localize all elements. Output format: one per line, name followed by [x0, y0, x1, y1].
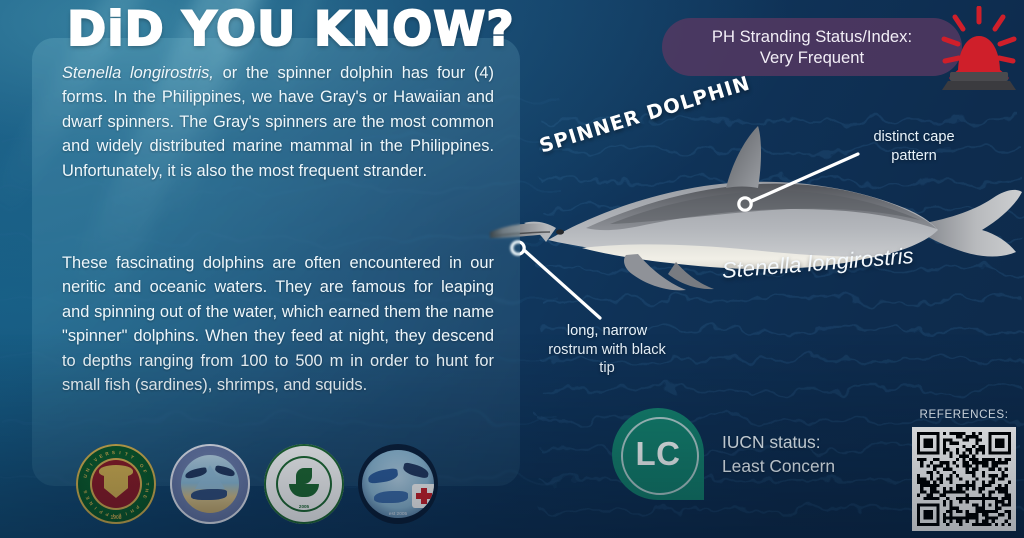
pmmsn-logo-inner: est 2005 [362, 450, 434, 518]
shield-icon [104, 472, 128, 498]
references-block: REFERENCES: [912, 408, 1016, 531]
species-name-inline: Stenella longirostris, [62, 64, 214, 82]
iesm-seal-inner: 2005 [276, 456, 332, 512]
stranding-status-text: PH Stranding Status/Index: Very Frequent [678, 26, 946, 68]
iucn-status-block: LC IUCN status: Least Concern [612, 408, 835, 500]
iesm-seal-year: 2005 [299, 504, 309, 509]
logo-university-of-the-philippines: UNIVERSITY OF THE PHILIPPINES 1908 [76, 444, 156, 524]
logo-philippine-marine-mammal-stranding-network: est 2005 [358, 444, 438, 524]
up-seal-year: 1908 [110, 515, 121, 521]
logo-marine-mammal-research-lab [170, 444, 250, 524]
article-paragraph-1: Stenella longirostris, or the spinner do… [62, 61, 494, 183]
siren-icon [936, 6, 1022, 92]
iucn-status-badge: LC [612, 408, 704, 500]
pmmsn-established-year: est 2005 [389, 512, 407, 517]
stranding-status-banner: PH Stranding Status/Index: Very Frequent [662, 18, 962, 76]
mml-seal-inner [181, 455, 239, 513]
dolphin-icon [191, 489, 227, 500]
references-label: REFERENCES: [912, 408, 1016, 421]
iucn-status-value: Least Concern [722, 454, 835, 478]
iucn-status-label: IUCN status: [722, 430, 835, 454]
infographic-poster: SPINNER DOLPHIN Stenella longirostris di… [0, 0, 1024, 538]
logo-institute-environmental-science-meteorology: 2005 [264, 444, 344, 524]
up-seal-inner [90, 458, 142, 510]
iucn-status-text: IUCN status: Least Concern [722, 430, 835, 478]
medical-cross-icon [412, 484, 434, 508]
dolphin-icon [374, 491, 408, 503]
article-paragraph-2: These fascinating dolphins are often enc… [62, 251, 494, 397]
qr-code[interactable] [912, 427, 1016, 531]
dolphin-icon [402, 462, 430, 479]
dolphin-icon [367, 468, 398, 484]
callout-distinct-cape-pattern: distinct cape pattern [855, 128, 973, 165]
page-title: DiD YOU KNOW? [56, 6, 526, 53]
qr-code-image [917, 432, 1011, 526]
iucn-status-code: LC [636, 435, 681, 473]
stranding-status-line-1: PH Stranding Status/Index: [678, 26, 946, 47]
partner-logos: UNIVERSITY OF THE PHILIPPINES 1908 2005 [76, 444, 438, 524]
callout-long-narrow-rostrum: long, narrow rostrum with black tip [548, 322, 666, 378]
bowl-icon [289, 484, 319, 497]
stranding-status-line-2: Very Frequent [678, 47, 946, 68]
leaf-icon [296, 468, 312, 484]
